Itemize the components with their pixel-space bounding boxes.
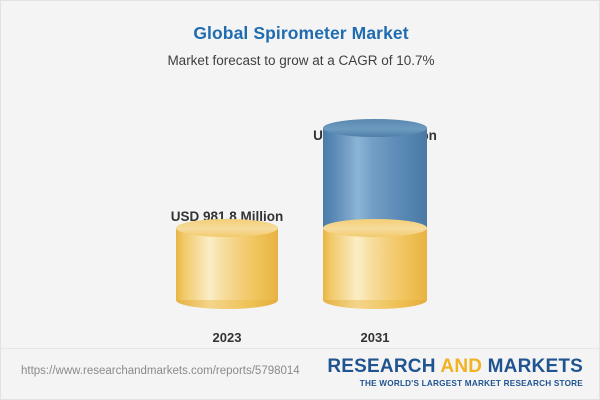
x-axis-label-2023: 2023 <box>213 330 242 345</box>
cylinder-segment-2031-base <box>323 219 427 309</box>
cylinder-body <box>176 228 278 300</box>
cylinder-body <box>323 228 427 300</box>
cylinder-top-ellipse <box>323 119 427 137</box>
logo-wordmark: RESEARCH AND MARKETS <box>327 357 583 376</box>
logo-tagline: THE WORLD'S LARGEST MARKET RESEARCH STOR… <box>327 380 583 388</box>
logo-word-markets: MARKETS <box>488 356 583 377</box>
cylinder-segment-2023-base <box>176 219 278 309</box>
cylinder-body <box>323 128 427 228</box>
cylinder-top-ellipse <box>323 219 427 237</box>
chart-subtitle: Market forecast to grow at a CAGR of 10.… <box>1 44 600 68</box>
chart-footer: https://www.researchandmarkets.com/repor… <box>1 348 600 399</box>
logo-word-and: AND <box>440 356 482 377</box>
report-url-link[interactable]: https://www.researchandmarkets.com/repor… <box>21 365 300 377</box>
logo-word-research: RESEARCH <box>327 356 435 377</box>
page-title: Global Spirometer Market <box>1 1 600 44</box>
cylinder-top-ellipse <box>176 219 278 237</box>
research-and-markets-logo[interactable]: RESEARCH AND MARKETS THE WORLD'S LARGEST… <box>327 357 583 388</box>
chart-header: Global Spirometer Market Market forecast… <box>1 1 600 68</box>
x-axis-label-2031: 2031 <box>361 330 390 345</box>
chart-plot-area: USD 981.8 Million 2023 USD 2,214.1 Milli… <box>1 86 600 351</box>
market-chart-card: Global Spirometer Market Market forecast… <box>0 0 600 400</box>
